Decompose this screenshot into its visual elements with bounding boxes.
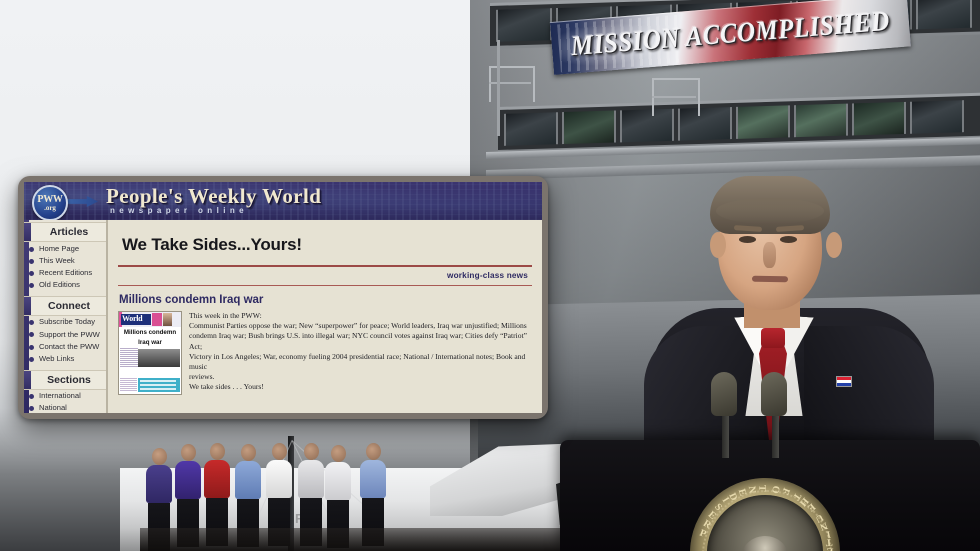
ear-right: [826, 232, 842, 258]
summary-line: This week in the PWW:: [189, 311, 532, 321]
thumb-text-column: [120, 378, 137, 392]
speaker-figure: [640, 176, 940, 476]
sidebar-item-web-links[interactable]: Web Links: [24, 352, 106, 364]
hair: [710, 176, 830, 234]
thumb-text-column: [120, 348, 138, 368]
site-header: PWW .org People's Weekly World newspaper…: [24, 182, 542, 220]
thumb-blue-box: [138, 378, 180, 392]
logo-text-pww: PWW: [37, 195, 62, 205]
browser-window-overlay[interactable]: PWW .org People's Weekly World newspaper…: [18, 176, 548, 419]
sidebar-item-this-week[interactable]: This Week: [24, 254, 106, 266]
newspaper-cover-thumbnail[interactable]: Millions condemn Iraq war: [118, 311, 182, 395]
summary-line: We take sides . . . Yours!: [189, 382, 532, 392]
microphone-left: [711, 372, 737, 416]
article-headline[interactable]: Millions condemn Iraq war: [119, 294, 532, 306]
microphone-stem-left: [722, 410, 729, 458]
mouth: [752, 276, 788, 283]
tagline: working-class news: [118, 270, 532, 282]
summary-line: condemn Iraq war; Bush brings U.S. into …: [189, 331, 532, 351]
flag-lapel-pin: [836, 376, 852, 387]
thumb-columns: [119, 348, 181, 394]
sidebar-item-recent-editions[interactable]: Recent Editions: [24, 266, 106, 278]
page-body: Articles Home Page This Week Recent Edit…: [24, 220, 542, 413]
microphone-right: [761, 372, 787, 416]
sidebar-item-support-the-pww[interactable]: Support the PWW: [24, 328, 106, 340]
presidential-seal: P R E S I D E N T O F T H E U N I T E: [690, 478, 840, 551]
sidebar-item-international[interactable]: International: [24, 390, 106, 402]
catwalk-rail-bar-2: [652, 96, 696, 98]
summary-line: reviews.: [189, 372, 532, 382]
sidebar-item-contact-the-pww[interactable]: Contact the PWW: [24, 340, 106, 352]
thumb-masthead-logo: [121, 314, 151, 325]
sidebar-group-sections: Sections International National Labor Pe…: [24, 370, 106, 414]
sidebar-heading-connect: Connect: [24, 296, 106, 316]
eye-right: [780, 236, 797, 243]
sidebar-heading-articles: Articles: [24, 222, 106, 242]
thumb-headline-line1: Millions condemn: [119, 327, 181, 337]
main-content: We Take Sides...Yours! working-class new…: [108, 220, 542, 413]
ear-left: [710, 232, 726, 258]
sidebar-nav: Articles Home Page This Week Recent Edit…: [24, 220, 108, 413]
summary-line: Victory in Los Angeles; War, economy fue…: [189, 352, 532, 372]
sidebar-group-connect: Connect Subscribe Today Support the PWW …: [24, 296, 106, 365]
article-summary: This week in the PWW: Communist Parties …: [189, 311, 532, 395]
pww-logo[interactable]: PWW .org: [32, 185, 68, 220]
sidebar-item-subscribe-today[interactable]: Subscribe Today: [24, 316, 106, 328]
catwalk-rail-bar-1: [489, 82, 531, 84]
screenshot-stage: MISSION ACCOMPLISHED: [0, 0, 980, 551]
thumb-accent-block: [152, 313, 162, 326]
site-subtitle: newspaper online: [110, 206, 248, 215]
sidebar-item-old-editions[interactable]: Old Editions: [24, 279, 106, 291]
sidebar-group-articles: Articles Home Page This Week Recent Edit…: [24, 222, 106, 291]
thumb-headline-line2: Iraq war: [119, 337, 181, 347]
article-body: Millions condemn Iraq war This: [118, 311, 532, 395]
sidebar-item-home-page[interactable]: Home Page: [24, 242, 106, 254]
sidebar-item-national[interactable]: National: [24, 402, 106, 413]
microphone-stem-right: [772, 410, 779, 458]
divider-top: [118, 265, 532, 267]
sidebar-heading-sections: Sections: [24, 370, 106, 390]
webpage: PWW .org People's Weekly World newspaper…: [24, 182, 542, 413]
thumb-portrait-photo: [163, 313, 172, 326]
summary-line: Communist Parties oppose the war; New “s…: [189, 321, 532, 331]
thumb-crowd-photo: [138, 349, 180, 367]
nose: [763, 242, 776, 268]
divider-bottom: [118, 285, 532, 286]
seal-legend: P R E S I D E N T O F T H E U N I T E: [690, 478, 840, 551]
catwalk-rail-upper: [489, 66, 535, 102]
eye-left: [739, 236, 756, 243]
lead-heading: We Take Sides...Yours!: [122, 235, 532, 255]
thumb-headline: Millions condemn Iraq war: [119, 327, 181, 347]
antenna-pole: [497, 40, 500, 136]
necktie-knot: [761, 328, 785, 348]
logo-text-org: .org: [44, 205, 56, 212]
